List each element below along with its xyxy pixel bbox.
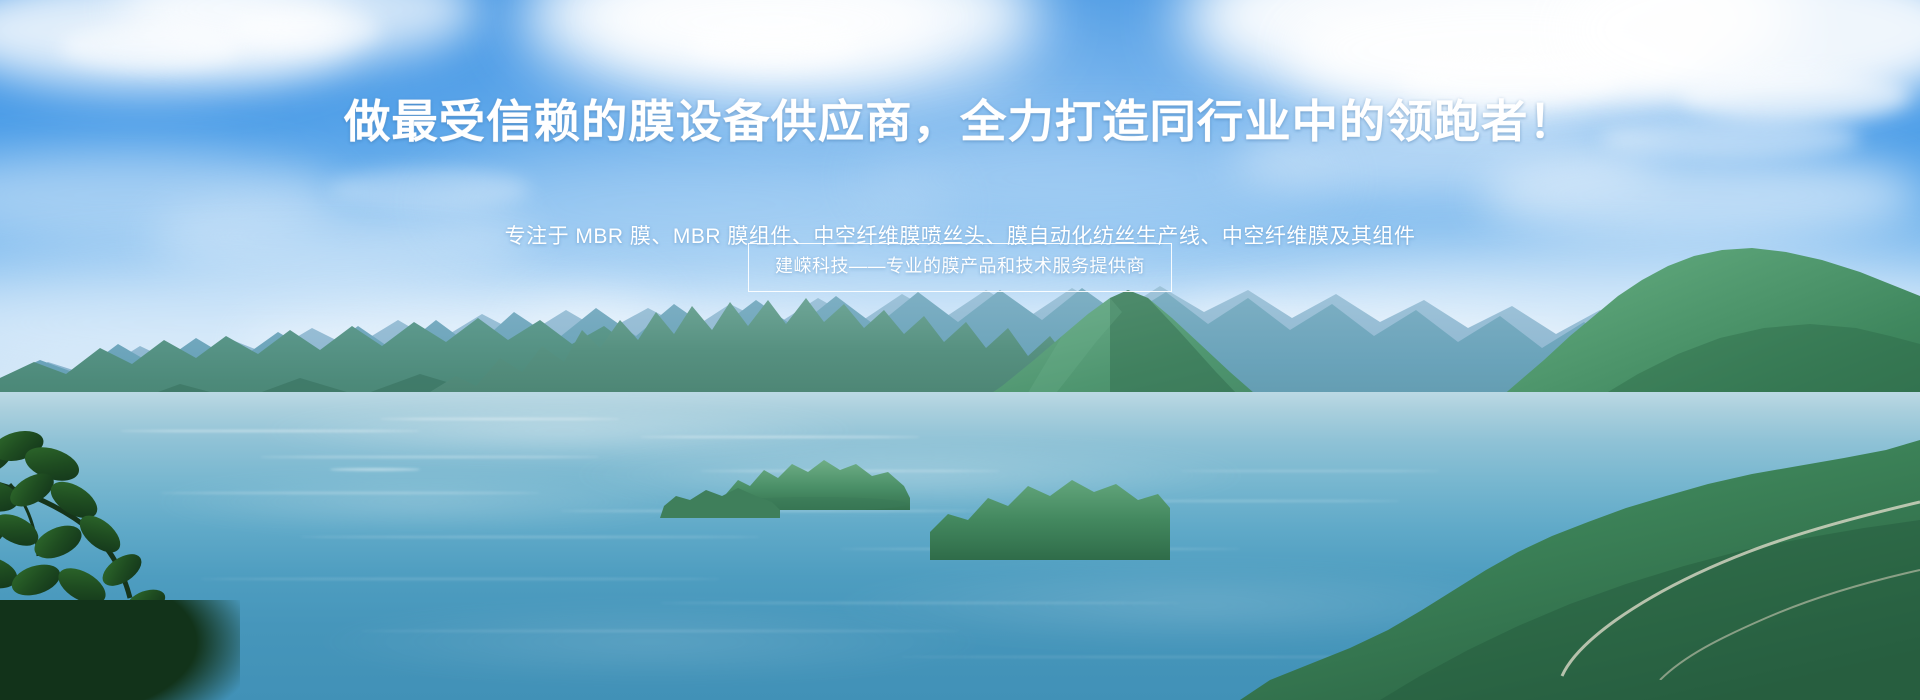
foreground-shadow-mass (0, 600, 240, 700)
island-small-left (660, 468, 780, 518)
hillside-road (1300, 440, 1920, 680)
hero-banner: 做最受信赖的膜设备供应商，全力打造同行业中的领跑者！ 专注于 MBR 膜、MBR… (0, 0, 1920, 700)
boat-wake (330, 468, 420, 471)
